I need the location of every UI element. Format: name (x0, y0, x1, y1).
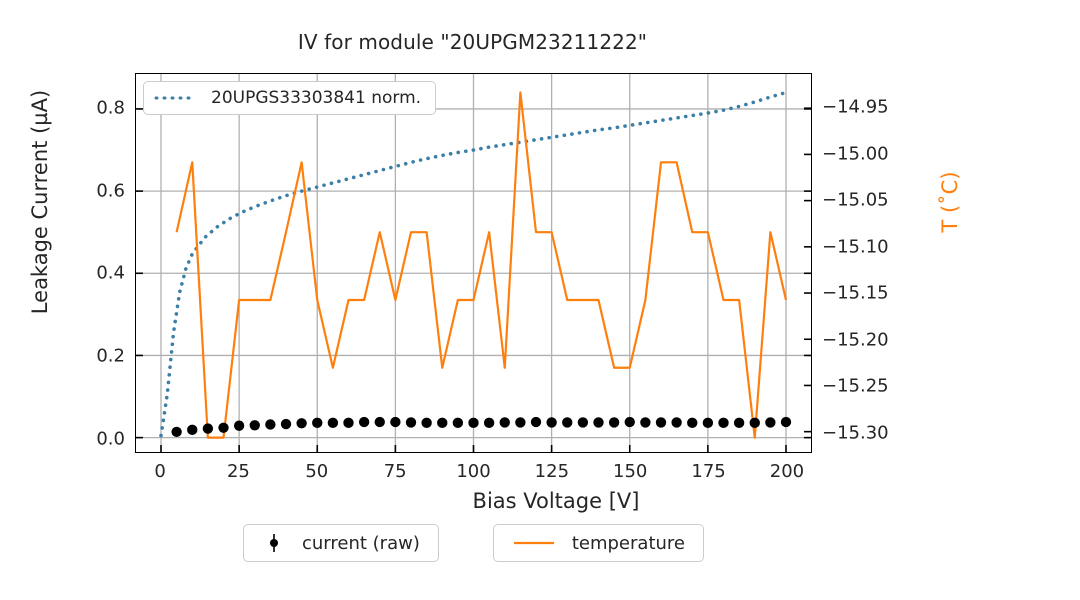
x-axis-tick-label: 50 (305, 461, 328, 482)
y-axis-left-tick-label: 0.8 (96, 98, 125, 119)
x-axis-tick-label: 75 (384, 461, 407, 482)
page-title: IV for module "20UPGM23211222" (0, 30, 945, 54)
x-axis-tick-label: 200 (770, 461, 804, 482)
chart-figure: IV for module "20UPGM23211222" 0.00.20.4… (0, 0, 1080, 600)
y-axis-right-tick-label: −15.10 (822, 236, 889, 257)
y-axis-left-ticks: 0.00.20.40.60.8 (55, 73, 125, 453)
errorbar-marker-icon (262, 532, 286, 554)
y-axis-left-tick-label: 0.4 (96, 263, 125, 284)
y-axis-right-tick-label: −15.00 (822, 143, 889, 164)
y-axis-right-tick-label: −15.25 (822, 376, 889, 397)
y-axis-left-tick-label: 0.2 (96, 345, 125, 366)
y-axis-right-tick-label: −15.15 (822, 283, 889, 304)
legend-bottom-label-0: current (raw) (302, 533, 420, 554)
legend-item-current-raw[interactable]: current (raw) (243, 524, 439, 562)
legend-bottom: current (raw) temperature (135, 524, 812, 562)
x-axis-tick-label: 175 (691, 461, 725, 482)
data-series-layer (136, 74, 811, 452)
legend-bottom-label-1: temperature (572, 533, 685, 554)
y-axis-right-tick-label: −14.95 (822, 97, 889, 118)
y-axis-left-label: Leakage Current (µA) (28, 12, 52, 392)
y-axis-right-ticks: −14.95−15.00−15.05−15.10−15.15−15.20−15.… (822, 73, 932, 453)
y-axis-right-tick-label: −15.05 (822, 190, 889, 211)
plot-area (135, 73, 812, 453)
solid-line-icon (512, 537, 556, 549)
legend-item-temperature[interactable]: temperature (493, 524, 704, 562)
legend-reference-curve[interactable]: 20UPGS33303841 norm. (143, 81, 436, 115)
x-axis-label: Bias Voltage [V] (300, 489, 812, 513)
dotted-line-icon (154, 92, 198, 104)
legend-inner-label-0: 20UPGS33303841 norm. (211, 88, 421, 108)
x-axis-tick-label: 0 (154, 461, 165, 482)
x-axis-tick-label: 150 (613, 461, 647, 482)
x-axis-tick-label: 100 (456, 461, 490, 482)
x-axis-ticks: 0255075100125150175200 (135, 461, 812, 487)
y-axis-right-tick-label: −15.30 (822, 422, 889, 443)
x-axis-tick-label: 25 (227, 461, 250, 482)
y-axis-right-label: T (˚C) (938, 12, 962, 392)
y-axis-right-tick-label: −15.20 (822, 329, 889, 350)
y-axis-left-tick-label: 0.6 (96, 180, 125, 201)
x-axis-tick-label: 125 (535, 461, 569, 482)
y-axis-left-tick-label: 0.0 (96, 428, 125, 449)
